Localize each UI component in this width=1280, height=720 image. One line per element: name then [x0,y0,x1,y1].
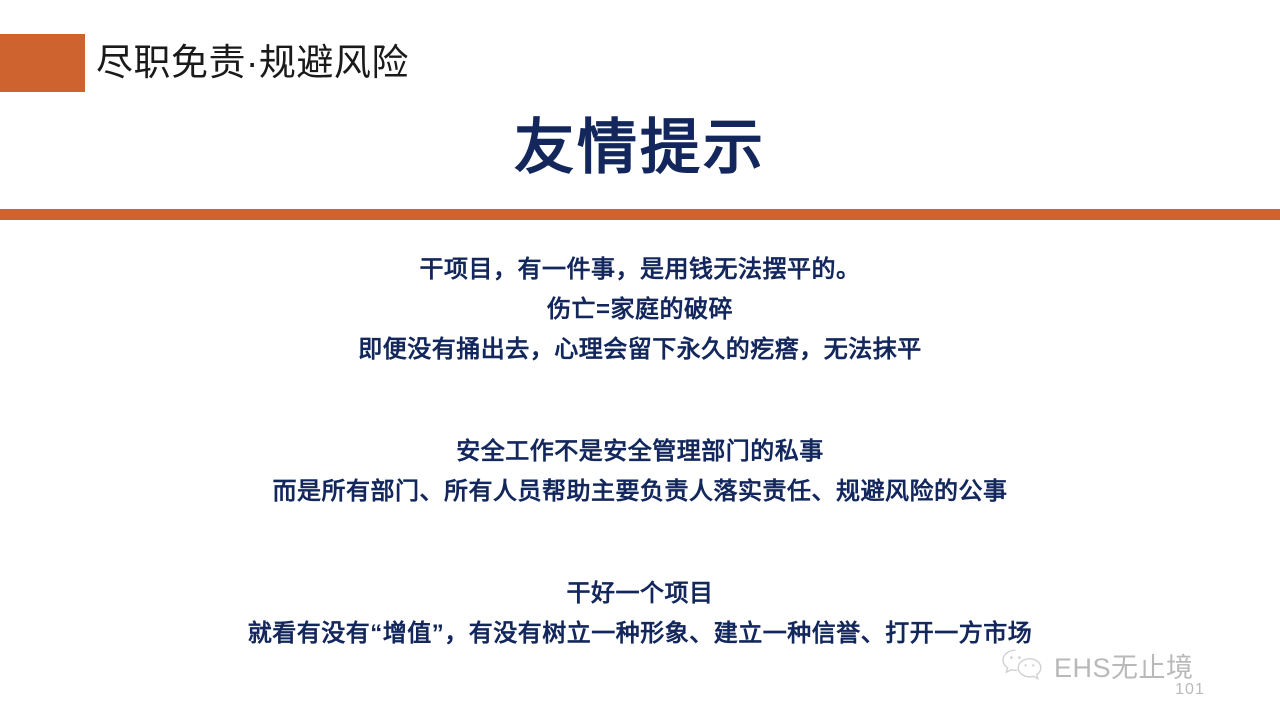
page-number: 101 [1160,681,1220,699]
body-paragraph-1: 干项目，有一件事，是用钱无法摆平的。 伤亡=家庭的破碎 即便没有捅出去，心理会留… [0,250,1280,370]
body-paragraph-2: 安全工作不是安全管理部门的私事 而是所有部门、所有人员帮助主要负责人落实责任、规… [0,432,1280,512]
paragraph-spacer [0,512,1280,574]
header-accent-square [0,34,85,92]
body-paragraph-3: 干好一个项目 就看有没有“增值”，有没有树立一种形象、建立一种信誉、打开一方市场 [0,574,1280,654]
orange-divider [0,209,1280,220]
body-line: 安全工作不是安全管理部门的私事 [0,432,1280,472]
header-title: 尽职免责·规避风险 [96,34,409,92]
slide-canvas: 尽职免责·规避风险 友情提示 干项目，有一件事，是用钱无法摆平的。 伤亡=家庭的… [0,0,1280,720]
watermark: EHS无止境 [1000,645,1250,685]
wechat-icon [1000,648,1046,682]
paragraph-spacer [0,370,1280,432]
body-line: 而是所有部门、所有人员帮助主要负责人落实责任、规避风险的公事 [0,472,1280,512]
page-title: 友情提示 [0,108,1280,188]
slide-header: 尽职免责·规避风险 [0,34,640,92]
slide-body: 干项目，有一件事，是用钱无法摆平的。 伤亡=家庭的破碎 即便没有捅出去，心理会留… [0,250,1280,654]
body-line: 即便没有捅出去，心理会留下永久的疙瘩，无法抹平 [0,330,1280,370]
body-line: 干好一个项目 [0,574,1280,614]
body-line: 伤亡=家庭的破碎 [0,290,1280,330]
watermark-label: EHS无止境 [1054,646,1194,685]
body-line: 干项目，有一件事，是用钱无法摆平的。 [0,250,1280,290]
